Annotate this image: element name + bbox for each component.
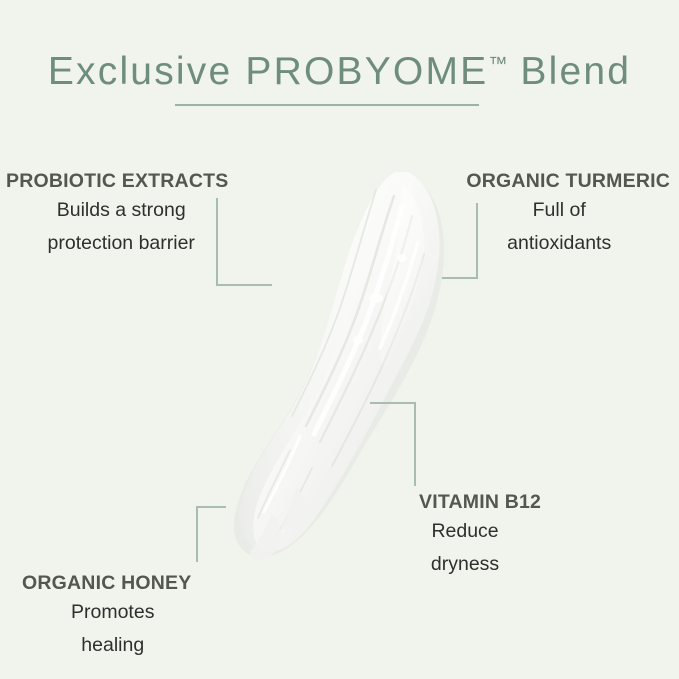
- callout-body-line2-vitamin-b12: dryness: [419, 548, 541, 581]
- callout-organic-turmeric: ORGANIC TURMERIC Full of antioxidants: [466, 168, 670, 260]
- callout-body-line1-organic-honey: Promotes: [22, 596, 191, 629]
- callout-heading-organic-honey: ORGANIC HONEY: [22, 570, 191, 596]
- trademark-symbol: ™: [488, 54, 507, 75]
- connector-b12-horizontal: [370, 402, 414, 404]
- connector-organic-honey: [196, 506, 228, 564]
- callout-organic-honey: ORGANIC HONEY Promotes healing: [22, 570, 191, 662]
- callout-heading-organic-turmeric: ORGANIC TURMERIC: [466, 168, 670, 194]
- connector-turmeric-horizontal: [442, 277, 476, 279]
- connector-honey-vertical: [196, 506, 198, 562]
- callout-heading-vitamin-b12: VITAMIN B12: [419, 489, 541, 515]
- callout-body-line1-vitamin-b12: Reduce: [419, 515, 541, 548]
- connector-honey-horizontal: [196, 506, 226, 508]
- page-title-suffix: Blend: [507, 50, 631, 93]
- callout-body-line1-probiotic-extracts: Builds a strong: [6, 194, 228, 227]
- callout-vitamin-b12: VITAMIN B12 Reduce dryness: [419, 489, 541, 581]
- page-title: Exclusive PROBYOME™ Blend: [0, 40, 679, 97]
- callout-heading-probiotic-extracts: PROBIOTIC EXTRACTS: [6, 168, 228, 194]
- callout-body-line1-organic-turmeric: Full of: [466, 194, 670, 227]
- connector-probiotic-horizontal: [216, 284, 272, 286]
- infographic-canvas: Exclusive PROBYOME™ Blend: [0, 0, 679, 679]
- callout-probiotic-extracts: PROBIOTIC EXTRACTS Builds a strong prote…: [6, 168, 228, 260]
- connector-b12-vertical: [414, 402, 416, 486]
- callout-body-line2-probiotic-extracts: protection barrier: [6, 227, 228, 260]
- callout-body-line2-organic-honey: healing: [22, 629, 191, 662]
- page-title-main: Exclusive PROBYOME: [48, 50, 489, 93]
- connector-vitamin-b12: [370, 402, 416, 488]
- callout-body-line2-organic-turmeric: antioxidants: [466, 227, 670, 260]
- title-divider: [175, 104, 479, 106]
